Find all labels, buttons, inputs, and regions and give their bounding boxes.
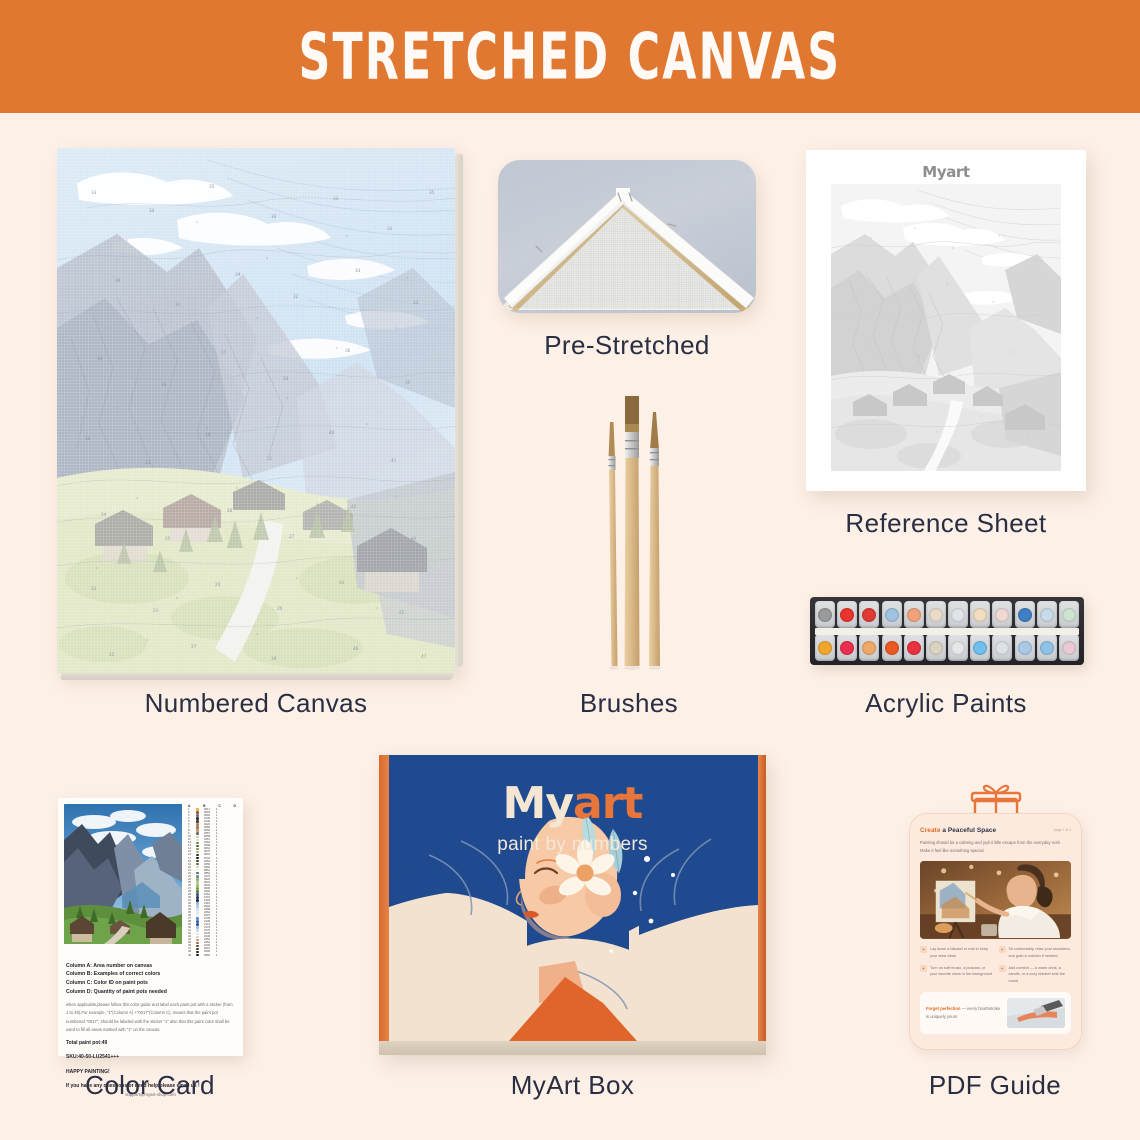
pdf-tip-text: Sit comfortably, relax your shoulders, a… bbox=[1009, 946, 1072, 959]
paint-pot bbox=[992, 634, 1012, 661]
color-card-row: 4929031 bbox=[187, 954, 237, 957]
pdf-tip-item: ✦Turn on soft music, a podcast, or your … bbox=[920, 965, 993, 985]
paint-pot-color bbox=[1018, 641, 1032, 655]
paint-pot-color bbox=[929, 608, 943, 622]
paint-pot-color bbox=[862, 641, 876, 655]
paint-pot-color bbox=[1062, 641, 1076, 655]
paint-pot bbox=[926, 634, 946, 661]
box-logo-my: My bbox=[503, 778, 573, 829]
paint-pot bbox=[948, 601, 968, 628]
brush-round bbox=[649, 412, 660, 666]
caption-acrylic-paints: Acrylic Paints bbox=[806, 688, 1086, 719]
reference-sheet-artwork bbox=[831, 184, 1061, 471]
paint-pot-color bbox=[907, 641, 921, 655]
color-card-top: A B C D 10017120018130092140130150130160… bbox=[64, 804, 237, 957]
woman-painting-photo bbox=[920, 861, 1071, 938]
cc-quantity: 1 bbox=[214, 954, 219, 957]
pdf-tip-icon: ✦ bbox=[999, 946, 1006, 953]
paint-pot-color bbox=[973, 641, 987, 655]
acrylic-paints-image bbox=[810, 597, 1084, 665]
paint-pot bbox=[904, 634, 924, 661]
paint-pot bbox=[882, 634, 902, 661]
box-logo: Myart bbox=[379, 778, 766, 829]
paint-pot-color bbox=[929, 641, 943, 655]
paint-pot-color bbox=[951, 608, 965, 622]
paint-pot-color bbox=[818, 608, 832, 622]
pdf-tip-icon: ✦ bbox=[920, 946, 927, 953]
paint-row-top bbox=[815, 601, 1079, 628]
paint-pot bbox=[859, 601, 879, 628]
paint-pot bbox=[904, 601, 924, 628]
cc-area-number: 49 bbox=[188, 954, 194, 957]
frame-corner-illustration bbox=[498, 160, 756, 313]
myart-box-image: Myart paint by numbers bbox=[379, 755, 766, 1055]
brush-flat bbox=[625, 396, 640, 666]
pdf-guide-image: page 1 of 1 Create a Peaceful Space Pain… bbox=[903, 783, 1088, 1055]
paint-pot-color bbox=[862, 608, 876, 622]
cc-color-id: 2903 bbox=[201, 954, 213, 957]
pdf-title-rest: a Peaceful Space bbox=[941, 827, 997, 834]
product-infographic: STRETCHED CANVAS bbox=[0, 0, 1140, 1140]
paint-pot-color bbox=[995, 641, 1009, 655]
paint-pot-color bbox=[1062, 608, 1076, 622]
pre-stretched-image bbox=[498, 160, 756, 313]
cc-color-swatch bbox=[195, 954, 200, 957]
paint-pot bbox=[815, 634, 835, 661]
pdf-title: Create a Peaceful Space bbox=[920, 827, 1071, 834]
pdf-footer-text: Forget perfection — every brushstroke is… bbox=[926, 1005, 1001, 1020]
paint-pot-color bbox=[1018, 608, 1032, 622]
paint-pot-color bbox=[885, 641, 899, 655]
paint-pot-color bbox=[1040, 608, 1054, 622]
numbered-canvas-image: 333435 363334 353031 293234 331819 17203… bbox=[57, 148, 455, 673]
header-banner: STRETCHED CANVAS bbox=[0, 0, 1140, 113]
grayscale-linework bbox=[831, 184, 1061, 471]
canvas-side-edge bbox=[454, 154, 463, 668]
paint-pot bbox=[815, 601, 835, 628]
caption-color-card: Color Card bbox=[40, 1070, 260, 1101]
brushes-image bbox=[565, 388, 693, 673]
paint-pot bbox=[1037, 601, 1057, 628]
pdf-footer-highlight: Forget perfection bbox=[926, 1006, 960, 1011]
box-subtitle: paint by numbers bbox=[379, 834, 766, 856]
color-card-rows: 1001712001813009214013015013016022217005… bbox=[187, 808, 237, 957]
box-bottom-edge bbox=[379, 1041, 766, 1055]
pdf-tip-item: ✦Sit comfortably, relax your shoulders, … bbox=[999, 946, 1072, 959]
pdf-tip-icon: ✦ bbox=[920, 965, 927, 972]
paint-pot bbox=[1059, 634, 1079, 661]
landscape-photo bbox=[64, 804, 182, 944]
pdf-tip-item: ✦Add comfort — a warm drink, a candle, o… bbox=[999, 965, 1072, 985]
canvas-face: 333435 363334 353031 293234 331819 17203… bbox=[57, 148, 455, 673]
paint-pot bbox=[992, 601, 1012, 628]
paint-pot bbox=[837, 634, 857, 661]
caption-brushes: Brushes bbox=[500, 688, 758, 719]
color-card-image: A B C D 10017120018130092140130150130160… bbox=[58, 798, 243, 1056]
color-card-table: A B C D 10017120018130092140130150130160… bbox=[187, 804, 237, 957]
pdf-guide-content: page 1 of 1 Create a Peaceful Space Pain… bbox=[920, 827, 1071, 1036]
three-brushes-illustration bbox=[565, 388, 693, 673]
pdf-tip-text: Turn on soft music, a podcast, or your f… bbox=[930, 965, 993, 985]
paint-pot bbox=[1037, 634, 1057, 661]
paint-pot bbox=[926, 601, 946, 628]
caption-pre-stretched: Pre-Stretched bbox=[498, 330, 756, 361]
pdf-tip-text: Lay down a blanket or mat to keep your a… bbox=[930, 946, 993, 959]
box-logo-art: art bbox=[573, 778, 642, 829]
pdf-title-highlight: Create bbox=[920, 827, 941, 834]
paint-pot-color bbox=[973, 608, 987, 622]
paint-pot-color bbox=[951, 641, 965, 655]
pdf-tip-item: ✦Lay down a blanket or mat to keep your … bbox=[920, 946, 993, 959]
paint-row-bottom bbox=[815, 634, 1079, 661]
paint-pot-color bbox=[1040, 641, 1054, 655]
pdf-footer-image bbox=[1007, 998, 1065, 1028]
paint-pot bbox=[970, 601, 990, 628]
caption-myart-box: MyArt Box bbox=[379, 1070, 766, 1101]
paint-label-strip bbox=[815, 628, 1079, 635]
paint-pot-color bbox=[818, 641, 832, 655]
paint-pot bbox=[970, 634, 990, 661]
pdf-photo bbox=[920, 861, 1071, 939]
paint-pot-color bbox=[995, 608, 1009, 622]
legend-line-c: Column C: Color ID on paint pots bbox=[66, 979, 235, 988]
page-title: STRETCHED CANVAS bbox=[299, 19, 842, 93]
pdf-footer-callout: Forget perfection — every brushstroke is… bbox=[920, 992, 1071, 1034]
paint-pot-color bbox=[840, 608, 854, 622]
caption-numbered-canvas: Numbered Canvas bbox=[57, 688, 455, 719]
paint-pot bbox=[948, 634, 968, 661]
brushstroke-photo bbox=[1007, 998, 1065, 1028]
canvas-linework: 333435 363334 353031 293234 331819 17203… bbox=[57, 148, 455, 673]
paint-pot bbox=[1059, 601, 1079, 628]
legend-line-d: Column D: Quantity of paint pots needed bbox=[66, 988, 235, 997]
pdf-guide-card: page 1 of 1 Create a Peaceful Space Pain… bbox=[909, 813, 1082, 1050]
color-card-instructions: when applicable,please follow this color… bbox=[66, 1001, 235, 1034]
paint-pot-color bbox=[907, 608, 921, 622]
caption-pdf-guide: PDF Guide bbox=[880, 1070, 1110, 1101]
brush-detail bbox=[609, 422, 618, 666]
legend-line-a: Column A: Area number on canvas bbox=[66, 962, 235, 971]
pdf-tip-text: Add comfort — a warm drink, a candle, or… bbox=[1009, 965, 1072, 985]
paint-pot-color bbox=[840, 641, 854, 655]
paint-pot bbox=[882, 601, 902, 628]
sku-label: SKU:40-50-LU2541+++ bbox=[66, 1053, 235, 1062]
canvas-bottom-edge bbox=[60, 672, 454, 680]
paint-pot bbox=[837, 601, 857, 628]
pdf-page-number: page 1 of 1 bbox=[1054, 828, 1071, 832]
pdf-tips-list: ✦Lay down a blanket or mat to keep your … bbox=[920, 946, 1071, 984]
paint-pot bbox=[1015, 634, 1035, 661]
paint-pot-color bbox=[885, 608, 899, 622]
pdf-lead-paragraph: Painting should be a calming and joyful … bbox=[920, 839, 1071, 855]
color-card-photo bbox=[64, 804, 182, 944]
legend-line-b: Column B: Examples of correct colors bbox=[66, 970, 235, 979]
pdf-tip-icon: ✦ bbox=[999, 965, 1006, 972]
reference-sheet-image: Myart bbox=[806, 150, 1086, 491]
paint-pot bbox=[859, 634, 879, 661]
paint-pot bbox=[1015, 601, 1035, 628]
total-paint-pot: Total paint pot:49 bbox=[66, 1039, 235, 1048]
caption-reference-sheet: Reference Sheet bbox=[806, 508, 1086, 539]
reference-sheet-logo: Myart bbox=[806, 163, 1086, 181]
